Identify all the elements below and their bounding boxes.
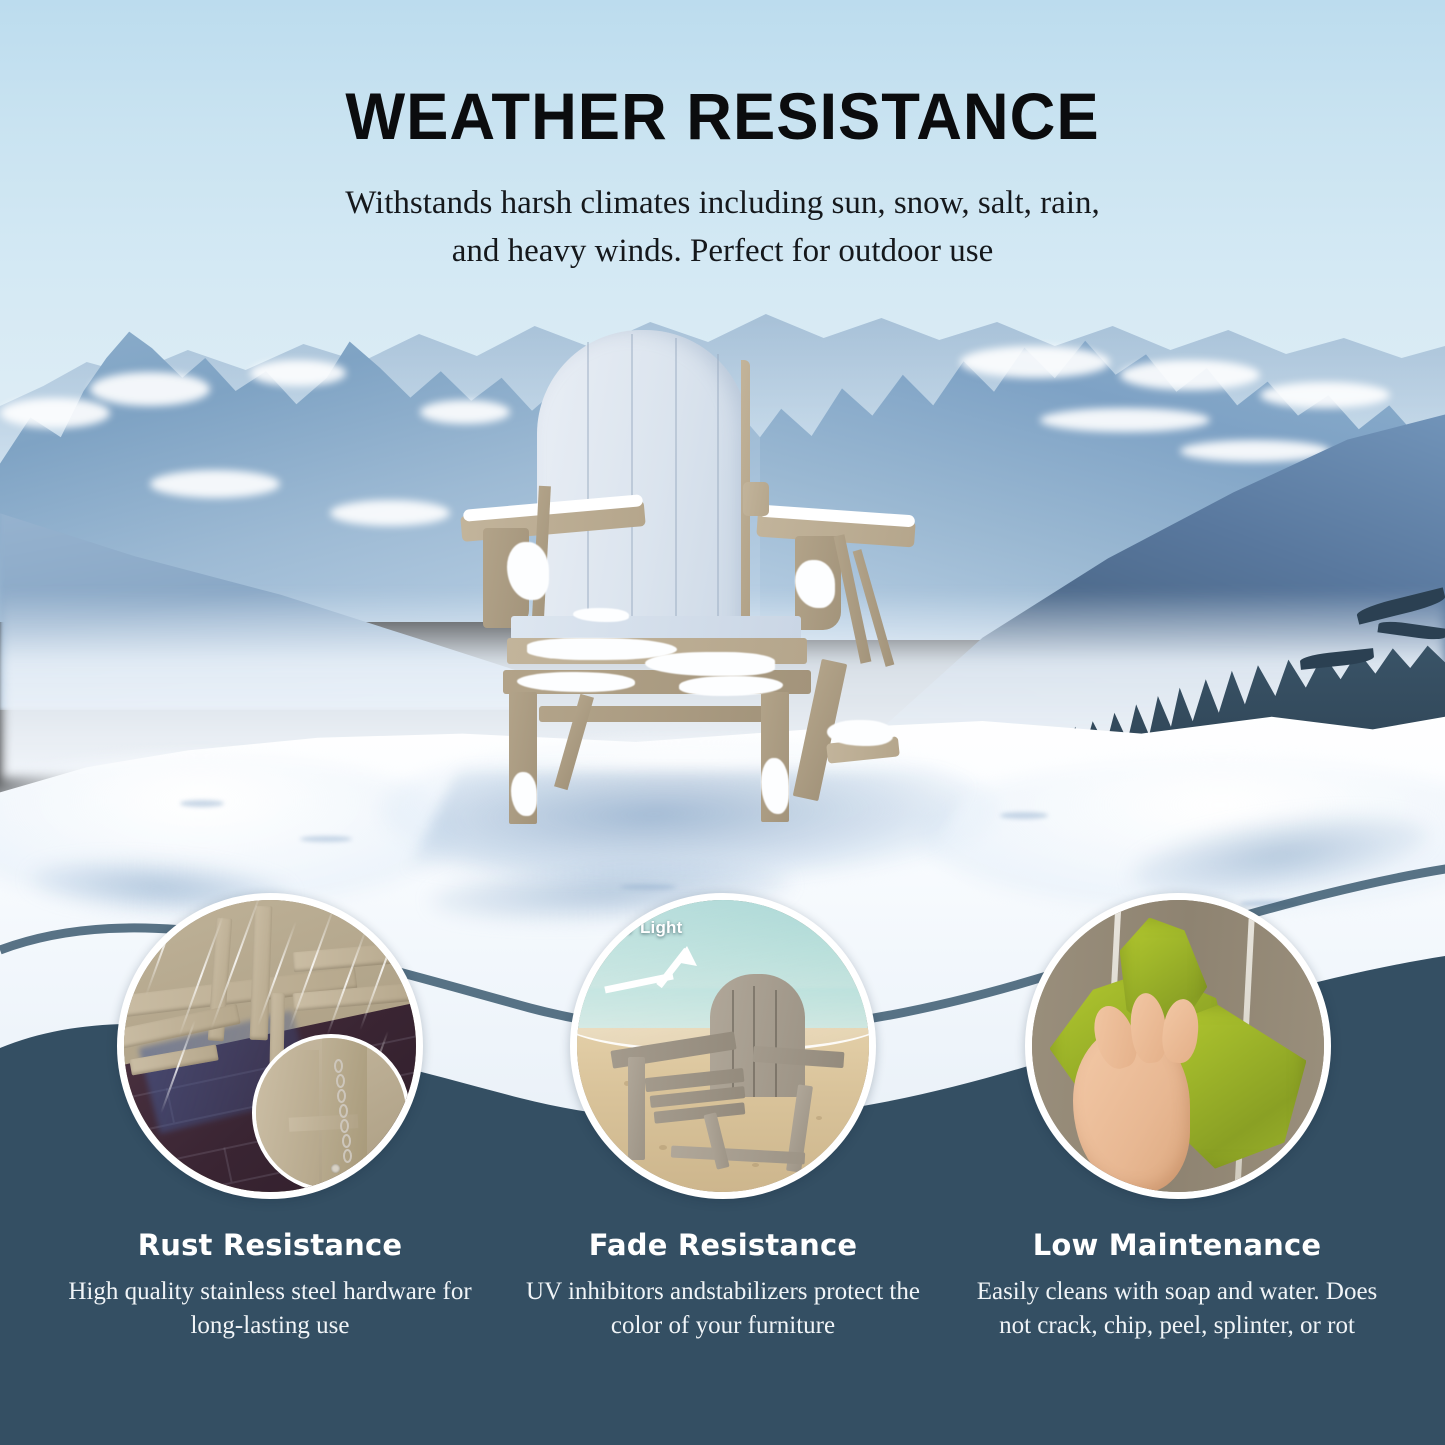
chair2-slat-line (775, 990, 777, 1097)
snowcap (150, 470, 280, 498)
snowcap (960, 346, 1110, 378)
chair2-slat-line (753, 986, 755, 1097)
snow-texture (1000, 812, 1048, 819)
feature-card-fade-resistance: Fade Resistance UV inhibitors andstabili… (508, 1228, 938, 1342)
snow-texture (620, 884, 676, 890)
feature-title: Fade Resistance (508, 1228, 938, 1262)
feature-card-rust-resistance: Rust Resistance High quality stainless s… (55, 1228, 485, 1342)
uv-light-label: UV Light (611, 918, 791, 938)
chain-link (339, 1104, 348, 1118)
brick-line (223, 1147, 232, 1182)
feature-body: Easily cleans with soap and water. Does … (962, 1275, 1392, 1342)
snowcap (250, 360, 346, 386)
feature-image-low-maintenance[interactable] (1025, 893, 1331, 1199)
feature-image-rust-resistance[interactable] (117, 893, 423, 1199)
infographic-root: UV Light WEATHER (0, 0, 1445, 1445)
page-subtitle: Withstands harsh climates including sun,… (0, 180, 1445, 275)
snowcap (1040, 408, 1210, 432)
snowcap (1260, 382, 1390, 408)
feature-body: High quality stainless steel hardware fo… (55, 1275, 485, 1342)
page-title: WEATHER RESISTANCE (29, 78, 1416, 154)
chair-snow-patch (511, 772, 537, 816)
chair2-leg-brace (704, 1112, 730, 1169)
hero-chair (455, 320, 955, 840)
feature-title: Rust Resistance (55, 1228, 485, 1262)
hardware-closeup-inset (252, 1034, 410, 1192)
snowcap (90, 372, 210, 406)
backrest-slat-line (631, 334, 633, 634)
feature-body: UV inhibitors andstabilizers protect the… (508, 1275, 938, 1342)
feature-title: Low Maintenance (962, 1228, 1392, 1262)
cup-holder (743, 482, 769, 516)
chain-link (336, 1074, 345, 1088)
snow-texture (300, 836, 352, 842)
backrest-slat-line (587, 342, 589, 634)
subtitle-line-1: Withstands harsh climates including sun,… (0, 180, 1445, 228)
snow-texture (180, 800, 224, 807)
subtitle-line-2: and heavy winds. Perfect for outdoor use (0, 228, 1445, 276)
chair2-stretcher (671, 1145, 805, 1164)
chain-link (342, 1134, 351, 1148)
snowcap (0, 398, 110, 428)
snowcap (1120, 360, 1260, 390)
backrest-slat-line (717, 354, 719, 634)
feature-image-fade-resistance[interactable]: UV Light (570, 893, 876, 1199)
beach-chair (624, 982, 840, 1181)
snowcap (330, 500, 450, 526)
chair2-front-leg (628, 1057, 645, 1160)
backrest-slat-line (675, 338, 677, 634)
feature-card-low-maintenance: Low Maintenance Easily cleans with soap … (962, 1228, 1392, 1342)
chair-seat (511, 616, 801, 640)
